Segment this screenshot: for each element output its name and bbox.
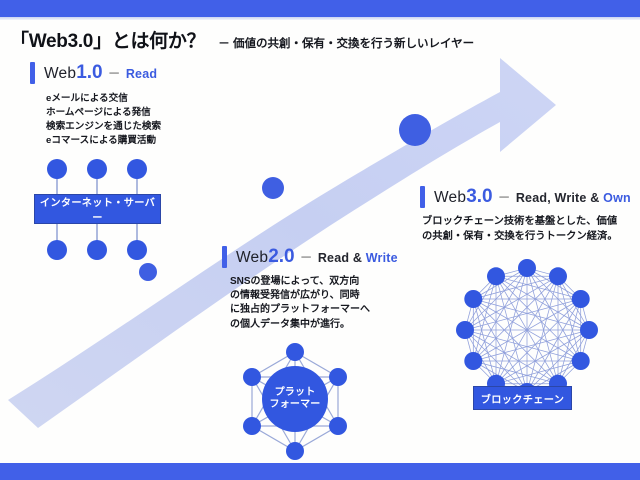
title-main: 「Web3.0」とは何か？ <box>10 26 205 53</box>
label-mode: Read, Write & <box>516 191 603 205</box>
platformer-label: プラット フォーマー <box>263 382 327 416</box>
platformer-label-line1: プラット <box>275 387 316 400</box>
section-web3-title: Web3.0－Read, Write & Own <box>434 186 631 208</box>
section-web3-header: Web3.0－Read, Write & Own <box>420 186 635 208</box>
label-prefix: Web <box>434 189 466 206</box>
section-web1-body: eメールによる交信 ホームページによる発信 検索エンジンを通じた検索 eコマース… <box>46 92 161 148</box>
body-line: 検索エンジンを通じた検索 <box>46 120 161 134</box>
title-subtitle: － 価値の共創・保有・交換を行う新しいレイヤー <box>218 35 474 51</box>
body-line: ブロックチェーン技術を基盤とした、価値 <box>422 215 630 230</box>
section-web3-body: ブロックチェーン技術を基盤とした、価値 の共創・保有・交換を行うトークン経済。 <box>422 215 630 244</box>
body-line: SNSの登場によって、双方向 <box>230 275 405 289</box>
body-line: の個人データ集中が進行。 <box>230 318 405 332</box>
slide-canvas: 「Web3.0」とは何か？ － 価値の共創・保有・交換を行う新しいレイヤー We… <box>0 0 640 480</box>
section-web2-header: Web2.0－Read & Write <box>222 246 412 268</box>
page-title: 「Web3.0」とは何か？ － 価値の共創・保有・交換を行う新しいレイヤー <box>10 26 474 53</box>
accent-bar-icon <box>222 246 227 268</box>
section-web3: Web3.0－Read, Write & Own ブロックチェーン技術を基盤とし… <box>420 186 635 244</box>
label-number: 1.0 <box>76 62 102 83</box>
blockchain-mesh-diagram <box>456 259 598 401</box>
label-dash: － <box>498 190 511 205</box>
label-mode: Read & <box>318 251 366 265</box>
label-mode: Read <box>126 67 157 81</box>
label-dash: － <box>108 66 121 81</box>
label-mode-accent: Write <box>366 251 398 265</box>
mesh-node <box>572 352 590 370</box>
label-number: 2.0 <box>268 246 294 267</box>
body-line: に独占的プラットフォーマーへ <box>230 303 405 317</box>
section-web2-title: Web2.0－Read & Write <box>236 246 398 268</box>
body-line: eコマースによる購買活動 <box>46 134 161 148</box>
mesh-node <box>464 352 482 370</box>
accent-bar-icon <box>420 186 425 208</box>
mesh-node <box>518 259 536 277</box>
body-line: eメールによる交信 <box>46 92 161 106</box>
mesh-node <box>549 267 567 285</box>
section-web1: Web1.0－Read eメールによる交信 ホームページによる発信 検索エンジン… <box>30 62 161 148</box>
section-web1-header: Web1.0－Read <box>30 62 161 84</box>
label-dash: － <box>300 250 313 265</box>
label-number: 3.0 <box>466 186 492 207</box>
section-web2: Web2.0－Read & Write SNSの登場によって、双方向 の情報受発… <box>222 246 412 332</box>
accent-bar-icon <box>30 62 35 84</box>
body-line: の情報受発信が広がり、同時 <box>230 289 405 303</box>
label-prefix: Web <box>44 65 76 82</box>
mesh-node <box>456 321 474 339</box>
internet-server-label-box: インターネット・サーバー <box>34 194 161 224</box>
section-web2-body: SNSの登場によって、双方向 の情報受発信が広がり、同時 に独占的プラットフォー… <box>230 275 405 332</box>
body-line: ホームページによる発信 <box>46 106 161 120</box>
body-line: の共創・保有・交換を行うトークン経済。 <box>422 230 630 245</box>
blockchain-label-box: ブロックチェーン <box>473 386 572 410</box>
section-web1-title: Web1.0－Read <box>44 62 157 84</box>
mesh-node <box>464 290 482 308</box>
label-prefix: Web <box>236 249 268 266</box>
label-mode-accent: Own <box>603 191 631 205</box>
mesh-node <box>572 290 590 308</box>
platformer-label-line2: フォーマー <box>270 399 321 412</box>
mesh-node <box>487 267 505 285</box>
mesh-node <box>580 321 598 339</box>
